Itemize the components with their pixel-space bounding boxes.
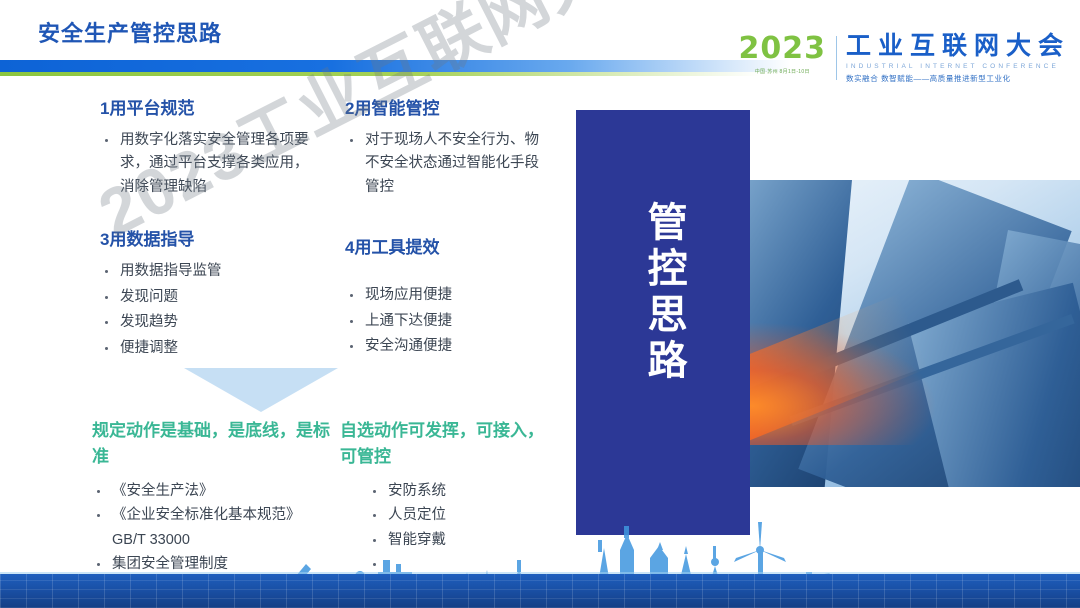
content-block-4: 4用工具提效 现场应用便捷 上通下达便捷 安全沟通便捷 (345, 233, 545, 358)
list-item (368, 554, 555, 572)
vertical-banner-text: 管控思路 (639, 201, 686, 385)
photo-sun-flare (742, 315, 952, 445)
logo-slogan: 数实融合 数智赋能——高质量推进新型工业化 (846, 73, 1070, 84)
vertical-banner: 管控思路 (576, 110, 750, 535)
list-item: 智能穿戴 (368, 530, 555, 551)
summary-bullet-list-right: 安防系统 人员定位 智能穿戴 (368, 481, 555, 572)
content-block-1: 1用平台规范 用数字化落实安全管理各项要求，通过平台支撑各类应用，消除管理缺陷 (100, 94, 315, 199)
page-title: 安全生产管控思路 (38, 16, 222, 48)
logo-year-subtitle: 中国·苏州 8月1日-10日 (755, 68, 810, 75)
slide-root: 安全生产管控思路 2023 中国·苏州 8月1日-10日 工业互联网大会 IND… (0, 0, 1080, 608)
content-column-right: 2用智能管控 对于现场人不安全行为、物不安全状态通过智能化手段管控 4用工具提效… (345, 94, 545, 385)
list-item: 现场应用便捷 (345, 284, 545, 307)
list-item: 用数字化落实安全管理各项要求，通过平台支撑各类应用，消除管理缺陷 (100, 129, 315, 199)
logo-year: 2023 (738, 34, 826, 64)
block-heading: 2用智能管控 (345, 94, 545, 119)
list-item: 《企业安全标准化基本规范》 (92, 505, 332, 526)
list-item-continuation: GB/T 33000 (92, 530, 332, 551)
conference-logo: 2023 中国·苏州 8月1日-10日 工业互联网大会 INDUSTRIAL I… (738, 34, 1070, 84)
list-item: 发现问题 (100, 286, 315, 309)
block-heading: 4用工具提效 (345, 233, 545, 258)
block-heading: 3用数据指导 (100, 225, 315, 250)
content-block-3: 3用数据指导 用数据指导监管 发现问题 发现趋势 便捷调整 (100, 225, 315, 360)
logo-separator (836, 36, 837, 80)
logo-year-block: 2023 中国·苏州 8月1日-10日 (738, 34, 836, 75)
content-column-left: 1用平台规范 用数字化落实安全管理各项要求，通过平台支撑各类应用，消除管理缺陷 … (100, 94, 315, 386)
block-heading: 1用平台规范 (100, 94, 315, 119)
grid-band (0, 574, 1080, 608)
block-bullet-list: 对于现场人不安全行为、物不安全状态通过智能化手段管控 (345, 129, 545, 199)
block-bullet-list: 现场应用便捷 上通下达便捷 安全沟通便捷 (345, 284, 545, 358)
content-block-2: 2用智能管控 对于现场人不安全行为、物不安全状态通过智能化手段管控 (345, 94, 545, 199)
block-bullet-list: 用数据指导监管 发现问题 发现趋势 便捷调整 (100, 260, 315, 360)
list-item: 发现趋势 (100, 311, 315, 334)
summary-heading-left: 规定动作是基础，是底线，是标准 (92, 418, 332, 469)
list-item: 安防系统 (368, 481, 555, 502)
summary-heading-right: 自选动作可发挥，可接入，可管控 (340, 418, 555, 469)
logo-name-en: INDUSTRIAL INTERNET CONFERENCE (846, 63, 1070, 70)
down-arrow-icon (184, 368, 338, 412)
skyscraper-photo (742, 180, 1080, 487)
list-item: 上通下达便捷 (345, 310, 545, 333)
summary-block-right: 自选动作可发挥，可接入，可管控 安防系统 人员定位 智能穿戴 (340, 418, 555, 575)
list-item: 对于现场人不安全行为、物不安全状态通过智能化手段管控 (345, 129, 545, 199)
summary-bullet-list-left: 《安全生产法》 《企业安全标准化基本规范》 GB/T 33000 集团安全管理制… (92, 481, 332, 576)
summary-block-left: 规定动作是基础，是底线，是标准 《安全生产法》 《企业安全标准化基本规范》 GB… (92, 418, 332, 579)
divider-green-line (0, 72, 760, 76)
list-item: 安全沟通便捷 (345, 335, 545, 358)
list-item: 便捷调整 (100, 337, 315, 360)
logo-name-block: 工业互联网大会 INDUSTRIAL INTERNET CONFERENCE 数… (846, 34, 1070, 84)
logo-name-cn: 工业互联网大会 (846, 34, 1070, 59)
list-item: 《安全生产法》 (92, 481, 332, 502)
list-item: 用数据指导监管 (100, 260, 315, 283)
block-bullet-list: 用数字化落实安全管理各项要求，通过平台支撑各类应用，消除管理缺陷 (100, 129, 315, 199)
list-item: 人员定位 (368, 505, 555, 526)
divider-blue-bar (0, 60, 790, 72)
list-item: 集团安全管理制度 (92, 554, 332, 575)
